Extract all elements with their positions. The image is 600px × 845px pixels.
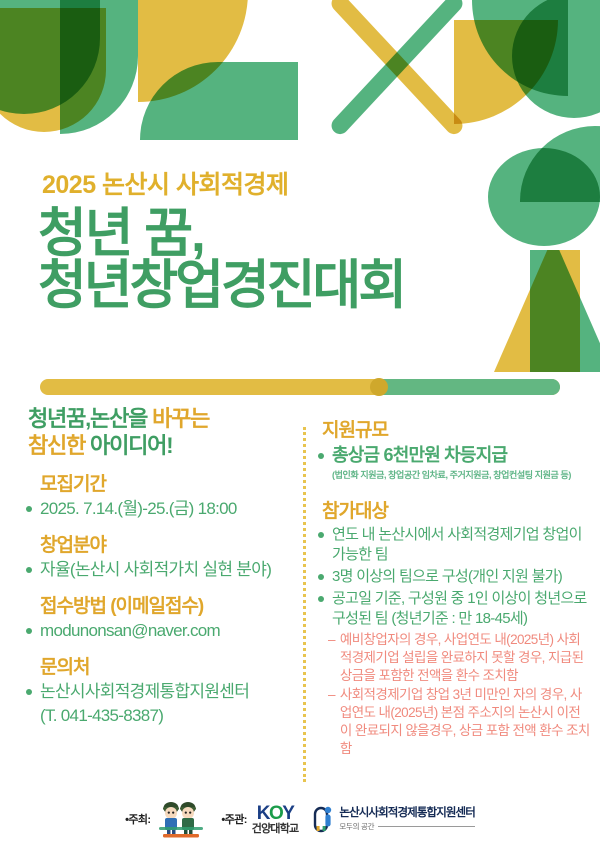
content-columns: 청년꿈,논산을 바꾸는 참신한 아이디어! 모집기간 2025. 7.14.(월… xyxy=(0,405,600,790)
section-heading-application-method: 접수방법 (이메일접수) xyxy=(40,591,296,618)
section-heading-support-scale: 지원규모 xyxy=(322,415,590,442)
dash-icon: – xyxy=(328,686,335,758)
deco-green-circle-2 xyxy=(488,148,600,246)
divider-rule xyxy=(40,379,560,395)
bullet-dot-icon xyxy=(26,506,32,512)
dash-icon: – xyxy=(328,631,335,685)
column-left: 청년꿈,논산을 바꾸는 참신한 아이디어! 모집기간 2025. 7.14.(월… xyxy=(18,405,296,729)
section-heading-startup-field: 창업분야 xyxy=(40,530,296,557)
support-center-rule xyxy=(378,826,475,827)
slogan-line-2-green: 아이디어! xyxy=(90,433,172,458)
list-item: 자율(논산시 사회적가치 실현 분야) xyxy=(26,559,296,581)
recruit-period-value: 2025. 7.14.(월)-25.(금) 18:00 xyxy=(40,498,296,520)
ky-letter-k: K xyxy=(257,803,269,824)
list-item: (T. 041-435-8387) xyxy=(40,705,296,727)
eligibility-note-1: 예비창업자의 경우, 사업연도 내(2025년) 사회적경제기업 설립을 완료하… xyxy=(340,631,590,685)
support-fineprint: (법인화 지원금, 창업공간 임차료, 주거지원금, 창업컨설팅 지원금 등) xyxy=(332,469,590,482)
list-item: 공고일 기준, 구성원 중 1인 이상이 청년으로 구성된 팀 (청년기준 : … xyxy=(318,589,590,629)
application-email-value[interactable]: modunonsan@naver.com xyxy=(40,620,296,642)
eligibility-item-2: 3명 이상의 팀으로 구성(개인 지원 불가) xyxy=(332,567,590,587)
deco-green-cone xyxy=(530,250,600,372)
deco-green-circle-1 xyxy=(512,0,600,118)
support-amount-value: 총상금 6천만원 차등지급 xyxy=(332,445,507,465)
list-item: 총상금 6천만원 차등지급 (법인화 지원금, 창업공간 임차료, 주거지원금,… xyxy=(318,444,590,482)
startup-field-value: 자율(논산시 사회적가치 실현 분야) xyxy=(40,559,296,581)
host-label: •주최: xyxy=(125,811,150,827)
support-center-text: 논산시사회적경제통합지원센터 모두의 공간 xyxy=(339,808,475,830)
bullet-dot-icon xyxy=(26,628,32,634)
konyang-university-logo: KOY 건양대학교 xyxy=(252,804,299,835)
nonsan-mascot-icon xyxy=(155,799,207,839)
support-center-subtitle-row: 모두의 공간 xyxy=(339,823,475,831)
bullet-dot-icon xyxy=(318,596,324,602)
konyang-wordmark: KOY xyxy=(257,803,294,824)
support-center-icon xyxy=(312,804,334,834)
poster-headline: 청년 꿈, 청년창업경진대회 xyxy=(38,208,404,312)
konyang-university-name: 건양대학교 xyxy=(252,824,299,835)
slogan-line-2: 참신한 아이디어! xyxy=(28,432,296,459)
eligibility-note: – 사회적경제기업 창업 3년 미만인 자의 경우, 사업연도 내(2025년)… xyxy=(328,686,590,758)
contact-org-name: 논산시사회적경제통합지원센터 xyxy=(40,681,296,703)
slogan: 청년꿈,논산을 바꾸는 참신한 아이디어! xyxy=(28,405,296,459)
ky-letter-y: Y xyxy=(282,803,293,824)
list-item: 3명 이상의 팀으로 구성(개인 지원 불가) xyxy=(318,567,590,587)
headline-line-1: 청년 꿈, xyxy=(38,208,404,260)
footer-center-logo-group: 논산시사회적경제통합지원센터 모두의 공간 xyxy=(312,804,475,834)
slogan-line-1: 청년꿈,논산을 바꾸는 xyxy=(28,405,296,432)
list-item: modunonsan@naver.com xyxy=(26,620,296,642)
eligibility-item-1: 연도 내 논산시에서 사회적경제기업 창업이 가능한 팀 xyxy=(332,525,590,565)
section-heading-eligibility: 참가대상 xyxy=(322,496,590,523)
eligibility-note: – 예비창업자의 경우, 사업연도 내(2025년) 사회적경제기업 설립을 완… xyxy=(328,631,590,685)
list-item: 2025. 7.14.(월)-25.(금) 18:00 xyxy=(26,498,296,520)
contact-phone-value: (T. 041-435-8387) xyxy=(40,705,296,727)
footer-organizer-group: •주관: KOY 건양대학교 xyxy=(221,804,298,835)
eligibility-note-2: 사회적경제기업 창업 3년 미만인 자의 경우, 사업연도 내(2025년) 본… xyxy=(340,686,590,758)
bullet-dot-icon xyxy=(318,453,324,459)
column-divider-dotted xyxy=(303,427,306,782)
section-heading-recruit-period: 모집기간 xyxy=(40,469,296,496)
eligibility-item-3: 공고일 기준, 구성원 중 1인 이상이 청년으로 구성된 팀 (청년기준 : … xyxy=(332,589,590,629)
footer-logos: •주최: xyxy=(0,793,600,845)
bullet-dot-icon xyxy=(318,532,324,538)
organizer-label: •주관: xyxy=(221,811,246,827)
bullet-dot-icon xyxy=(26,689,32,695)
list-item: 연도 내 논산시에서 사회적경제기업 창업이 가능한 팀 xyxy=(318,525,590,565)
support-center-svg xyxy=(312,804,334,834)
headline-line-2: 청년창업경진대회 xyxy=(38,260,404,312)
list-item: 논산시사회적경제통합지원센터 xyxy=(26,681,296,703)
bullet-dot-icon xyxy=(318,574,324,580)
slogan-line-1-yellow: 바꾸는 xyxy=(152,406,209,431)
divider-rule-green-segment xyxy=(383,379,560,395)
support-center-title: 논산시사회적경제통합지원센터 xyxy=(339,808,475,820)
column-right: 지원규모 총상금 6천만원 차등지급 (법인화 지원금, 창업공간 임차료, 주… xyxy=(318,405,590,758)
footer-host-group: •주최: xyxy=(125,799,207,839)
section-heading-contact: 문의처 xyxy=(40,652,296,679)
ky-letter-o: O xyxy=(269,803,282,824)
bullet-dot-icon xyxy=(26,567,32,573)
nonsan-mascot-svg xyxy=(155,799,207,839)
poster-canvas: 2025 논산시 사회적경제 청년 꿈, 청년창업경진대회 청년꿈,논산을 바꾸… xyxy=(0,0,600,845)
deco-green-quarter-1 xyxy=(60,0,138,134)
support-center-subtitle: 모두의 공간 xyxy=(339,823,374,831)
slogan-line-1-green: 청년꿈,논산을 xyxy=(28,406,152,431)
slogan-line-2-yellow: 참신한 xyxy=(28,433,90,458)
poster-kicker: 2025 논산시 사회적경제 xyxy=(42,165,289,201)
